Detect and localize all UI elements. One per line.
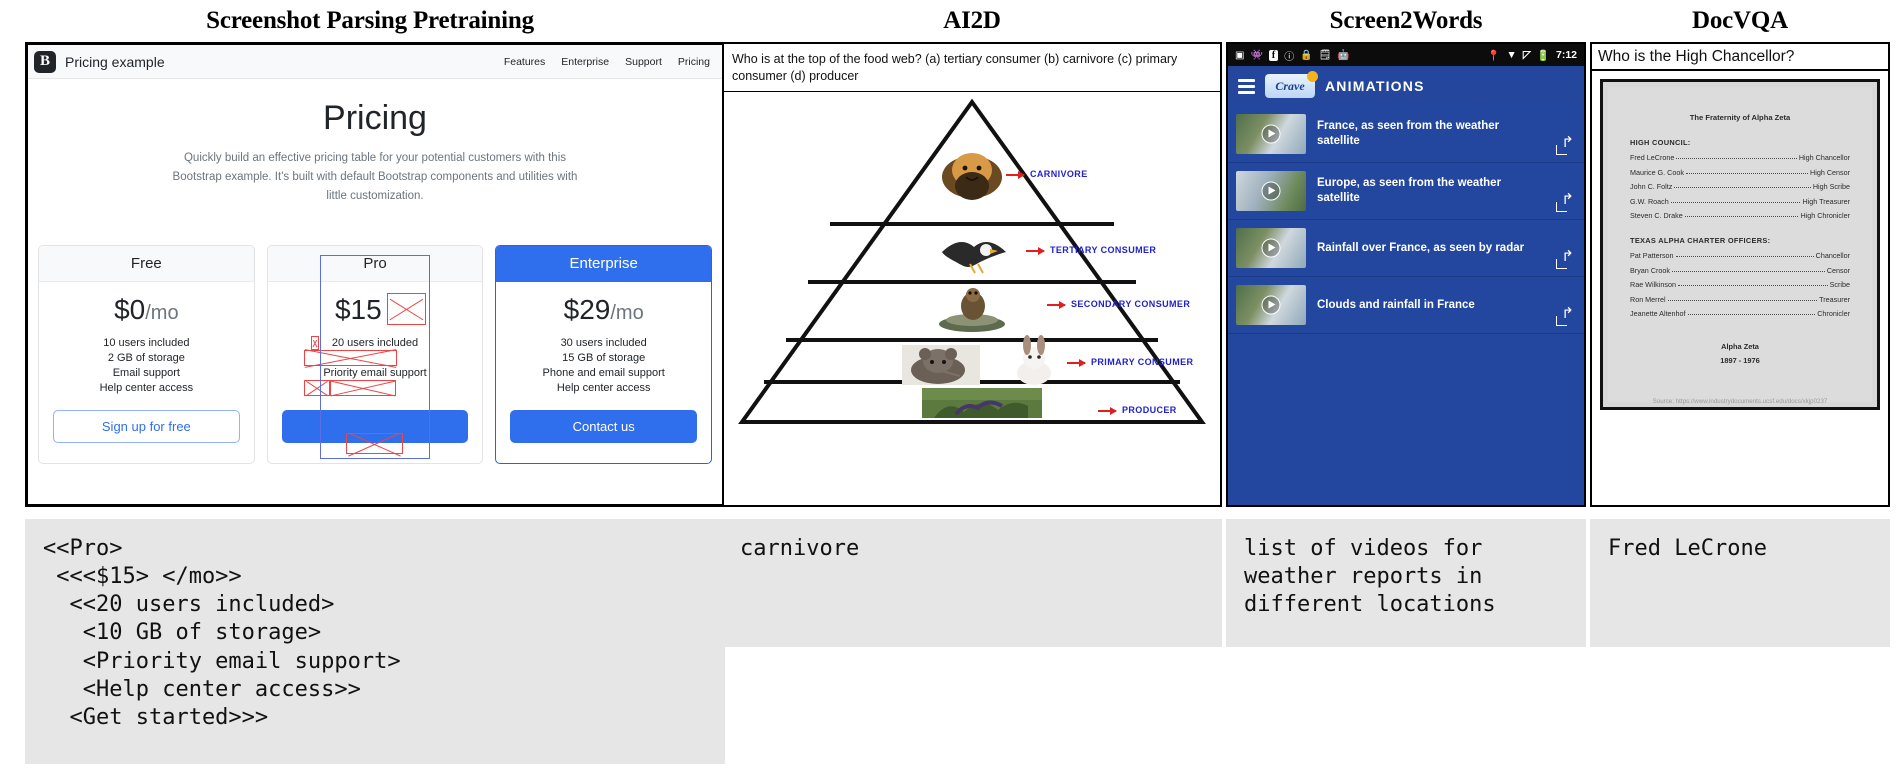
ai2d-question: Who is at the top of the food web? (a) t… (724, 44, 1220, 92)
column-title-docvqa: DocVQA (1590, 0, 1890, 33)
feature-item: Phone and email support (502, 366, 705, 381)
pyramid-label-producer: PRODUCER (1122, 405, 1177, 415)
leader-dots (1678, 285, 1828, 286)
play-icon[interactable] (1262, 296, 1281, 315)
status-time: 7:12 (1556, 49, 1577, 61)
person-name: Rae Wilkinson (1630, 280, 1676, 289)
document-footer: Alpha Zeta 1897 - 1976 (1630, 340, 1850, 368)
arrow-producer (1098, 410, 1116, 412)
list-item[interactable]: Rainfall over France, as seen by radar (1228, 220, 1584, 277)
leader-dots (1688, 314, 1816, 315)
pyramid-label-carnivore: CARNIVORE (1030, 169, 1088, 179)
person-name: G.W. Roach (1630, 197, 1669, 206)
list-item[interactable]: France, as seen from the weather satelli… (1228, 106, 1584, 163)
pricing-card-enterprise: Enterprise $29/mo 30 users included 15 G… (495, 245, 712, 464)
navbar-links: Features Enterprise Support Pricing (504, 56, 712, 68)
bootstrap-logo-icon: B (34, 51, 56, 73)
pyramid-label-tertiary: TERTIARY CONSUMER (1050, 245, 1156, 255)
table-row: Maurice G. CookHigh Censor (1630, 168, 1850, 177)
person-role: High Chronicler (1800, 211, 1850, 220)
play-icon[interactable] (1262, 125, 1281, 144)
footer-years: 1897 - 1976 (1630, 354, 1850, 368)
person-role: High Censor (1810, 168, 1850, 177)
person-role: High Chancellor (1799, 153, 1850, 162)
nav-link-features[interactable]: Features (504, 56, 545, 68)
android-status-bar: ▣ 👾 f ⓘ 🔒 🗒 🤖 📍 ▼ ◸ 🔋 7:12 (1228, 44, 1584, 66)
card-features-free: 10 users included 2 GB of storage Email … (45, 336, 248, 396)
list-item[interactable]: Clouds and rainfall in France (1228, 277, 1584, 334)
lock-icon: 🔒 (1300, 50, 1312, 61)
facebook-icon: f (1269, 50, 1278, 61)
pyramid-label-primary: PRIMARY CONSUMER (1091, 357, 1193, 367)
leader-dots (1671, 202, 1801, 203)
pyramid-svg (724, 92, 1220, 434)
tier-image-rat (902, 345, 980, 385)
android-icon: 🤖 (1337, 50, 1349, 61)
column-title-ai2d: AI2D (722, 0, 1222, 33)
table-row: Rae WilkinsonScribe (1630, 280, 1850, 289)
video-thumbnail[interactable] (1236, 171, 1306, 211)
person-name: John C. Foltz (1630, 182, 1672, 191)
video-title: Rainfall over France, as seen by radar (1317, 241, 1545, 256)
nav-link-pricing[interactable]: Pricing (678, 56, 710, 68)
price-amount: $29 (564, 294, 611, 325)
arrow-carnivore (1006, 174, 1024, 176)
mask-feature-helpcenter-a (304, 380, 330, 396)
nav-link-enterprise[interactable]: Enterprise (561, 56, 609, 68)
card-title-free: Free (39, 246, 254, 282)
pricing-card-pro: Pro $15/mo 20 users included (267, 245, 484, 464)
share-icon[interactable] (1556, 198, 1572, 212)
card-features-pro: 20 users included 10 GB of storage Prior… (274, 336, 477, 396)
table-row: Steven C. DrakeHigh Chronicler (1630, 211, 1850, 220)
person-name: Jeanette Altenhof (1630, 309, 1686, 318)
signup-button[interactable]: Sign up for free (53, 410, 240, 443)
table-row: John C. FoltzHigh Scribe (1630, 182, 1850, 191)
section-heading-high-council: HIGH COUNCIL: (1630, 138, 1850, 147)
feature-item: Help center access (45, 381, 248, 396)
leader-dots (1686, 173, 1808, 174)
pricing-card-free: Free $0/mo 10 users included 2 GB of sto… (38, 245, 255, 464)
tier-image-rabbit (1017, 335, 1051, 385)
food-pyramid-diagram: CARNIVORE TERTIARY CONSUMER SECONDARY CO… (724, 92, 1220, 434)
price-amount: $15 (335, 294, 382, 325)
feature-item: 10 users included (45, 336, 248, 351)
clipboard-icon: 🗒 (1319, 50, 1332, 61)
price-period: /mo (145, 302, 178, 324)
docvqa-question: Who is the High Chancellor? (1592, 44, 1888, 71)
pyramid-label-secondary: SECONDARY CONSUMER (1071, 299, 1190, 309)
card-price-enterprise: $29/mo (564, 296, 644, 324)
person-role: Chancellor (1816, 251, 1850, 260)
nav-link-support[interactable]: Support (625, 56, 662, 68)
sim-icon: ▣ (1235, 50, 1244, 61)
logo-text: Crave (1275, 79, 1304, 94)
leader-dots (1685, 216, 1799, 217)
leader-dots (1676, 158, 1797, 159)
feature-item: 30 users included (502, 336, 705, 351)
output-box-ai2d: carnivore (722, 519, 1222, 647)
person-name: Ron Merrel (1630, 295, 1666, 304)
panel-ai2d: Who is at the top of the food web? (a) t… (722, 42, 1222, 507)
tier-image-snake-mongoose (939, 288, 1005, 332)
card-price-free: $0/mo (114, 296, 179, 324)
share-icon[interactable] (1556, 255, 1572, 269)
column-title-screen2words: Screen2Words (1226, 0, 1586, 33)
price-period: /mo (610, 302, 643, 324)
card-title-pro: Pro (268, 246, 483, 282)
person-role: Treasurer (1819, 295, 1850, 304)
video-thumbnail[interactable] (1236, 285, 1306, 325)
table-row: Fred LeCroneHigh Chancellor (1630, 153, 1850, 162)
mask-feature-storage (304, 350, 397, 366)
card-price-pro: $15/mo (335, 296, 415, 324)
leader-dots (1668, 300, 1818, 301)
table-row: G.W. RoachHigh Treasurer (1630, 197, 1850, 206)
share-icon[interactable] (1556, 141, 1572, 155)
battery-charging-icon: 🔋 (1537, 49, 1550, 62)
ghost-icon: 👾 (1250, 50, 1262, 61)
page-lead: Quickly build an effective pricing table… (165, 149, 585, 206)
arrow-primary (1067, 362, 1085, 364)
list-item[interactable]: Europe, as seen from the weather satelli… (1228, 163, 1584, 220)
info-icon: ⓘ (1284, 48, 1294, 63)
table-row: Bryan CrookCensor (1630, 266, 1850, 275)
table-row: Ron MerrelTreasurer (1630, 295, 1850, 304)
pricing-cards: Free $0/mo 10 users included 2 GB of sto… (38, 245, 712, 464)
logo-sun-icon (1307, 71, 1318, 82)
person-name: Steven C. Drake (1630, 211, 1683, 220)
person-role: High Treasurer (1802, 197, 1850, 206)
mask-feature-helpcenter-b (330, 380, 396, 396)
document-content: The Fraternity of Alpha Zeta HIGH COUNCI… (1608, 87, 1872, 402)
feature-item: 10 GB of storage (274, 351, 477, 366)
person-role: Censor (1827, 266, 1850, 275)
hamburger-menu-icon[interactable] (1238, 79, 1255, 94)
feature-item: 15 GB of storage (502, 351, 705, 366)
play-icon[interactable] (1262, 182, 1281, 201)
mask-cta-button (346, 433, 403, 454)
person-name: Maurice G. Cook (1630, 168, 1684, 177)
video-thumbnail[interactable] (1236, 228, 1306, 268)
price-amount: $0 (114, 294, 145, 325)
location-icon: 📍 (1487, 49, 1500, 62)
video-title: Clouds and rainfall in France (1317, 298, 1545, 313)
arrow-tertiary (1026, 250, 1044, 252)
document-title: The Fraternity of Alpha Zeta (1630, 113, 1850, 122)
video-list: France, as seen from the weather satelli… (1228, 106, 1584, 505)
person-name: Pat Patterson (1630, 251, 1674, 260)
card-title-enterprise: Enterprise (496, 246, 711, 282)
panel-screen2words: ▣ 👾 f ⓘ 🔒 🗒 🤖 📍 ▼ ◸ 🔋 7:12 Crave (1226, 42, 1586, 507)
share-icon[interactable] (1556, 312, 1572, 326)
figure-root: Screenshot Parsing Pretraining AI2D Scre… (0, 0, 1896, 782)
leader-dots (1672, 271, 1825, 272)
document-page: The Fraternity of Alpha Zeta HIGH COUNCI… (1600, 79, 1880, 410)
output-box-docvqa: Fred LeCrone (1590, 519, 1890, 647)
person-role: Chronicler (1817, 309, 1850, 318)
output-box-spp: <<Pro> <<<$15> </mo>> <<20 users include… (25, 519, 725, 764)
page-title: Pricing (28, 101, 722, 137)
leader-dots (1674, 187, 1811, 188)
app-title: ANIMATIONS (1325, 78, 1425, 94)
pricing-hero: Pricing Quickly build an effective prici… (28, 79, 722, 206)
feature-item: Email support (45, 366, 248, 381)
play-icon[interactable] (1262, 239, 1281, 258)
tier-image-eagle (942, 242, 1006, 273)
mask-feature-users-digit (311, 336, 319, 350)
footer-name: Alpha Zeta (1630, 340, 1850, 354)
table-row: Pat PattersonChancellor (1630, 251, 1850, 260)
section-heading-texas-alpha: TEXAS ALPHA CHARTER OFFICERS: (1630, 236, 1850, 245)
wifi-icon: ▼ (1506, 49, 1516, 61)
tier-image-lion (942, 153, 1002, 200)
panel-docvqa: Who is the High Chancellor? The Fraterni… (1590, 42, 1890, 507)
person-role: Scribe (1830, 280, 1850, 289)
video-title: Europe, as seen from the weather satelli… (1317, 176, 1545, 206)
mask-price-period (387, 293, 426, 325)
document-source: Source: https://www.industrydocuments.uc… (1609, 398, 1871, 405)
app-bar: Crave ANIMATIONS (1228, 66, 1584, 106)
signal-off-icon: ◸ (1523, 49, 1531, 61)
feature-item: Help center access (274, 381, 477, 396)
table-row: Jeanette AltenhofChronicler (1630, 309, 1850, 318)
status-right: 📍 ▼ ◸ 🔋 7:12 (1487, 49, 1577, 62)
navbar-brand[interactable]: Pricing example (65, 54, 165, 70)
output-box-screen2words: list of videos for weather reports in di… (1226, 519, 1586, 647)
card-features-enterprise: 30 users included 15 GB of storage Phone… (502, 336, 705, 396)
bootstrap-navbar: B Pricing example Features Enterprise Su… (28, 45, 722, 79)
arrow-secondary (1047, 304, 1065, 306)
feature-text: 20 users included (332, 337, 418, 349)
contact-button[interactable]: Contact us (510, 410, 697, 443)
feature-item: Help center access (502, 381, 705, 396)
panel-screenshot-parsing: B Pricing example Features Enterprise Su… (25, 42, 725, 507)
feature-item: 2 GB of storage (45, 351, 248, 366)
person-name: Bryan Crook (1630, 266, 1670, 275)
person-name: Fred LeCrone (1630, 153, 1674, 162)
feature-item: Priority email support (274, 366, 477, 381)
video-thumbnail[interactable] (1236, 114, 1306, 154)
weather-crave-logo: Crave (1265, 74, 1315, 98)
person-role: High Scribe (1813, 182, 1850, 191)
column-title-spp: Screenshot Parsing Pretraining (20, 0, 720, 33)
leader-dots (1676, 256, 1814, 257)
video-title: France, as seen from the weather satelli… (1317, 119, 1545, 149)
tier-image-grass (922, 388, 1042, 418)
